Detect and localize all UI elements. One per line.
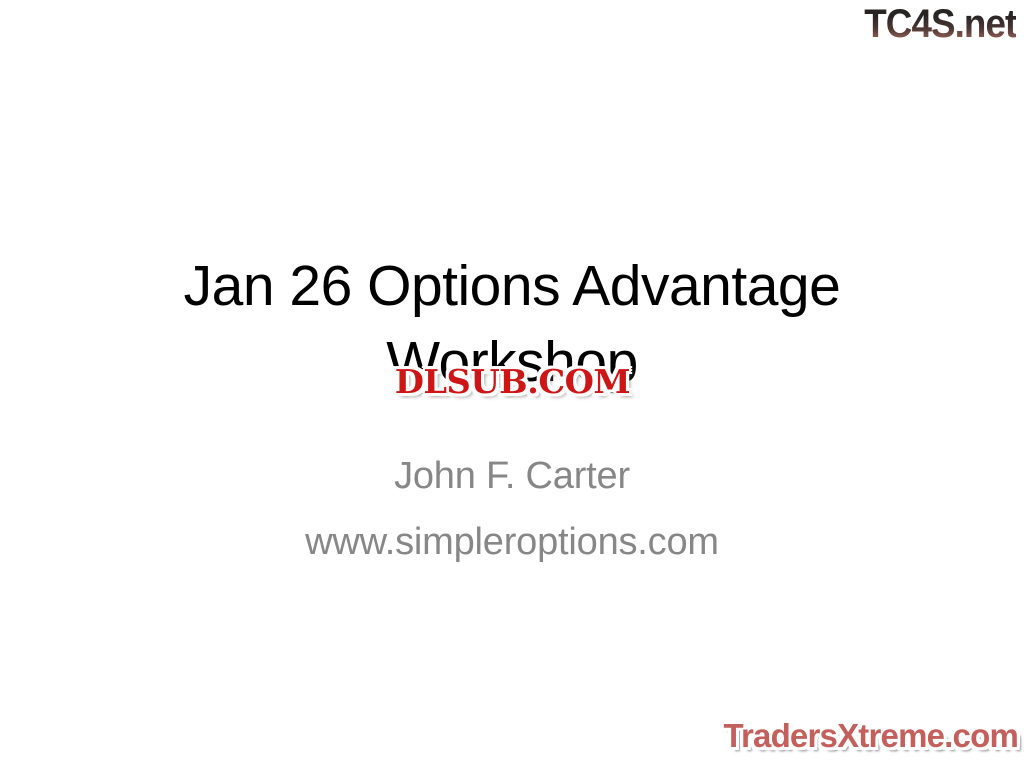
tradersxtreme-watermark-text: TradersXtreme.com: [723, 717, 1018, 754]
slide-title-line-1: Jan 26 Options Advantage: [90, 248, 934, 324]
presentation-slide: TC4S.net Jan 26 Options Advantage Worksh…: [0, 0, 1024, 768]
presenter-website: www.simpleroptions.com: [90, 509, 934, 575]
dlsub-watermark: DLSUB.COM: [368, 360, 656, 402]
tc4s-logo: TC4S.net: [864, 2, 1016, 46]
tradersxtreme-watermark: TradersXtreme.com: [723, 718, 1018, 754]
presenter-name: John F. Carter: [90, 443, 934, 509]
dlsub-watermark-text: DLSUB.COM: [394, 365, 629, 398]
slide-subtitle: John F. Carter www.simpleroptions.com: [90, 443, 934, 575]
